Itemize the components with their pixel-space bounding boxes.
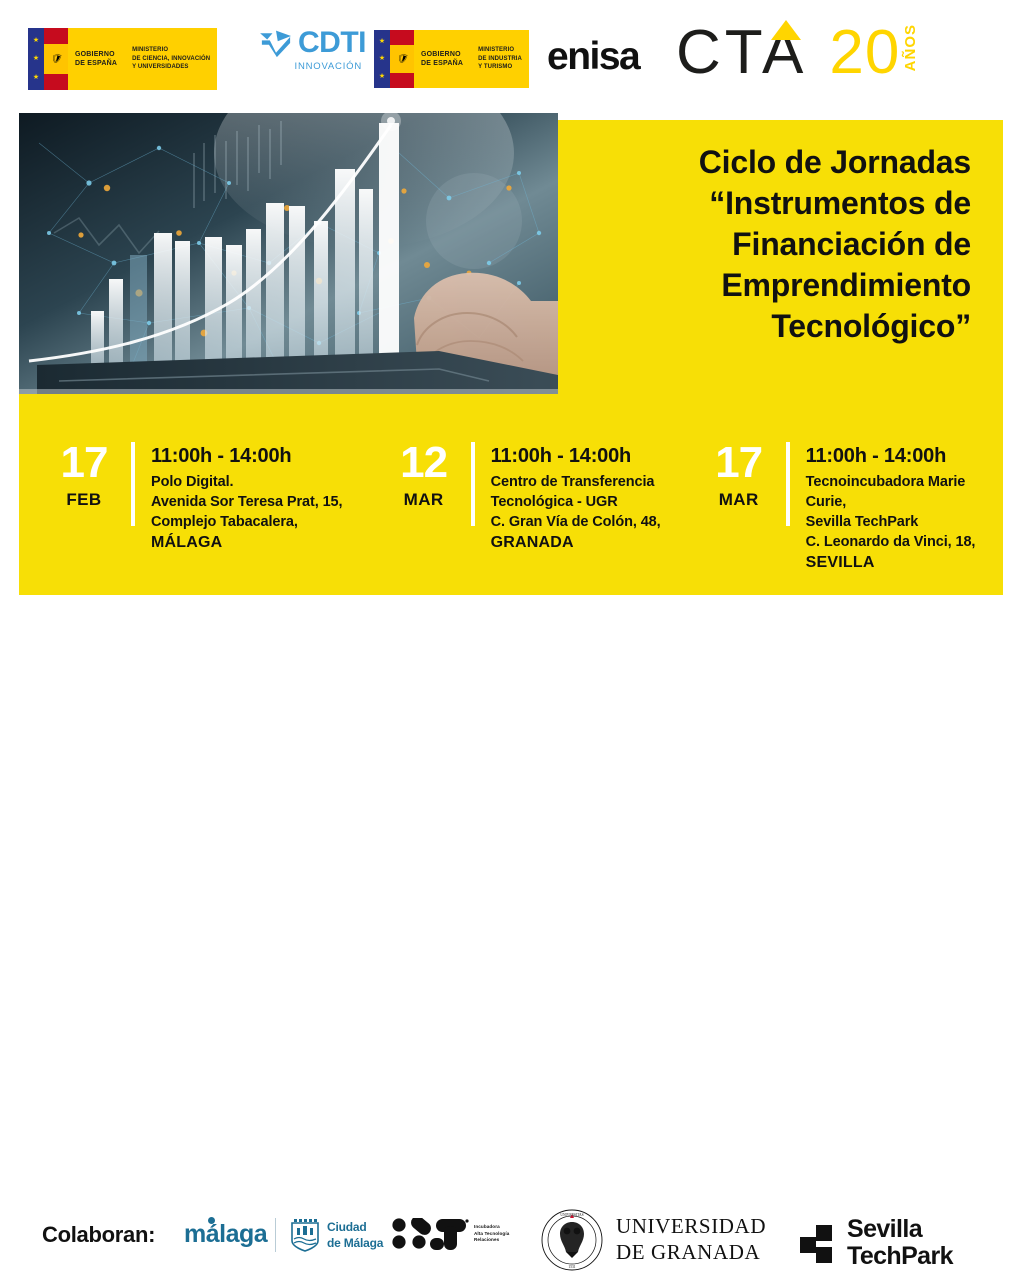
iat-sub-3: Relaciones <box>474 1237 509 1244</box>
logo-cdti: CDTI INNOVACIÓN <box>258 28 362 90</box>
ciudad-malaga-text: Ciudad de Málaga <box>327 1219 383 1251</box>
footer-logos: Colaboran: málaga <box>0 600 1024 683</box>
logo-malaga: málaga <box>184 1220 267 1249</box>
ugr-line-2: DE GRANADA <box>616 1240 766 1266</box>
title-line-5: Tecnológico” <box>581 306 971 347</box>
event-city: SEVILLA <box>806 552 1003 574</box>
spain-eu-flag-icon: ★★★ 🛡 <box>28 28 68 90</box>
cta-anniversary-number: 20 <box>829 22 900 84</box>
malaga-wordmark: málaga <box>184 1220 267 1248</box>
event-time: 11:00h - 14:00h <box>491 444 661 468</box>
ciudad-line-2: de Málaga <box>327 1235 383 1251</box>
logo-enisa: enisa <box>547 37 639 76</box>
ciudad-line-1: Ciudad <box>327 1219 383 1235</box>
ministry-line-3: Y UNIVERSIDADES <box>132 63 210 71</box>
iat-mark-icon <box>392 1218 470 1250</box>
cta-anniversary-label: AÑOS <box>902 24 919 71</box>
gov2-line-2: DE ESPAÑA <box>421 59 463 68</box>
techpark-line-1: Sevilla <box>847 1216 953 1243</box>
footer-divider <box>275 1218 276 1252</box>
techpark-wordmark: Sevilla TechPark <box>847 1216 953 1269</box>
event-day: 17 <box>53 442 115 484</box>
event-venue-line-1: Tecnoincubadora Marie Curie, <box>806 472 1003 512</box>
event-info-sevilla: 11:00h - 14:00h Tecnoincubadora Marie Cu… <box>806 442 1003 595</box>
ministry-line-1: MINISTERIO <box>132 46 210 54</box>
gov-line-2: DE ESPAÑA <box>75 59 117 68</box>
cdti-checkmark-icon <box>258 28 294 58</box>
ugr-seal-icon: UNIVERSITAS 1531 <box>540 1208 604 1272</box>
ministry2-line-3: Y TURISMO <box>478 63 522 71</box>
iat-subtitle: Incubadora Alta Tecnología Relaciones <box>474 1224 509 1245</box>
techpark-line-2: TechPark <box>847 1243 953 1270</box>
cdti-wordmark: CDTI <box>298 28 366 58</box>
logo-iat: Incubadora Alta Tecnología Relaciones <box>392 1218 509 1250</box>
event-divider <box>471 442 475 526</box>
hero-photo-graphic <box>19 113 558 394</box>
event-month: MAR <box>708 490 770 510</box>
gov2-line-1: GOBIERNO <box>421 50 463 59</box>
poster: ★★★ 🛡 GOBIERNO DE ESPAÑA MINISTERIO DE C… <box>0 0 1024 683</box>
svg-text:UNIVERSITAS: UNIVERSITAS <box>560 1213 583 1217</box>
iat-sub-2: Alta Tecnología <box>474 1231 509 1238</box>
event-venue-line-2: Avenida Sor Teresa Prat, 15, <box>151 492 342 512</box>
logo-ciudad-de-malaga: Ciudad de Málaga <box>290 1217 383 1253</box>
logo-cta: CTA 20 AÑOS <box>676 22 919 86</box>
event-venue-line-1: Centro de Transferencia <box>491 472 661 492</box>
poster-title: Ciclo de Jornadas “Instrumentos de Finan… <box>581 142 971 347</box>
logo-universidad-granada: UNIVERSITAS 1531 UNIVERSIDAD DE GRANADA <box>540 1208 766 1272</box>
event-month: FEB <box>53 490 115 510</box>
ugr-line-1: UNIVERSIDAD <box>616 1214 766 1240</box>
event-day: 12 <box>393 442 455 484</box>
spain-eu-flag-icon-2: ★★★ 🛡 <box>374 30 414 88</box>
event-venue-line-1: Polo Digital. <box>151 472 342 492</box>
coat-of-arms-icon-2: 🛡 <box>396 54 407 63</box>
iat-sub-1: Incubadora <box>474 1224 509 1231</box>
title-line-1: Ciclo de Jornadas <box>581 142 971 183</box>
event-time: 11:00h - 14:00h <box>151 444 342 468</box>
event-venue-line-3: Complejo Tabacalera, <box>151 512 342 532</box>
event-venue-line-2: Tecnológica - UGR <box>491 492 661 512</box>
event-city: MÁLAGA <box>151 532 342 554</box>
city-shield-icon <box>290 1217 320 1253</box>
event-city: GRANADA <box>491 532 661 554</box>
event-info-granada: 11:00h - 14:00h Centro de Transferencia … <box>491 442 661 595</box>
cta-chevron-icon <box>771 20 801 40</box>
hero-photo <box>19 113 558 394</box>
ministry2-line-2: DE INDUSTRIA <box>478 55 522 63</box>
title-line-4: Emprendimiento <box>581 265 971 306</box>
cta-wordmark: CTA <box>676 22 807 84</box>
coat-of-arms-icon: 🛡 <box>50 54 61 63</box>
logo-gobierno-industria: ★★★ 🛡 GOBIERNO DE ESPAÑA MINISTERIO DE I… <box>374 30 529 88</box>
dates-panel: 17 FEB 11:00h - 14:00h Polo Digital. Ave… <box>19 394 1003 595</box>
title-line-3: Financiación de <box>581 224 971 265</box>
collaborators-label: Colaboran: <box>42 1222 155 1248</box>
malaga-dot-icon <box>208 1217 215 1224</box>
event-day: 17 <box>708 442 770 484</box>
techpark-squares-icon <box>800 1225 836 1261</box>
gov-line-1: GOBIERNO <box>75 50 117 59</box>
event-venue-line-2: Sevilla TechPark <box>806 512 1003 532</box>
event-block-sevilla: 17 MAR 11:00h - 14:00h Tecnoincubadora M… <box>708 394 1003 595</box>
title-panel: Ciclo de Jornadas “Instrumentos de Finan… <box>558 120 1003 395</box>
event-divider <box>786 442 790 526</box>
logo-sevilla-techpark: Sevilla TechPark <box>800 1216 953 1269</box>
event-venue-line-3: C. Leonardo da Vinci, 18, <box>806 532 1003 552</box>
ministry-line-2: DE CIENCIA, INNOVACIÓN <box>132 55 210 63</box>
event-time: 11:00h - 14:00h <box>806 444 1003 468</box>
event-info-malaga: 11:00h - 14:00h Polo Digital. Avenida So… <box>151 442 342 595</box>
title-line-2: “Instrumentos de <box>581 183 971 224</box>
ugr-wordmark: UNIVERSIDAD DE GRANADA <box>616 1214 766 1265</box>
event-month: MAR <box>393 490 455 510</box>
event-venue-line-3: C. Gran Vía de Colón, 48, <box>491 512 661 532</box>
ministry2-line-1: MINISTERIO <box>478 46 522 54</box>
event-block-granada: 12 MAR 11:00h - 14:00h Centro de Transfe… <box>393 394 708 595</box>
cdti-subtitle: INNOVACIÓN <box>258 61 362 72</box>
event-date-malaga: 17 FEB <box>53 442 115 595</box>
logo-bar: ★★★ 🛡 GOBIERNO DE ESPAÑA MINISTERIO DE C… <box>0 0 1024 108</box>
event-date-sevilla: 17 MAR <box>708 442 770 595</box>
event-date-granada: 12 MAR <box>393 442 455 595</box>
dates-row: 17 FEB 11:00h - 14:00h Polo Digital. Ave… <box>19 394 1003 595</box>
logo-gobierno-ciencia: ★★★ 🛡 GOBIERNO DE ESPAÑA MINISTERIO DE C… <box>28 28 217 90</box>
event-block-malaga: 17 FEB 11:00h - 14:00h Polo Digital. Ave… <box>19 394 393 595</box>
svg-text:1531: 1531 <box>568 1265 575 1269</box>
event-divider <box>131 442 135 526</box>
